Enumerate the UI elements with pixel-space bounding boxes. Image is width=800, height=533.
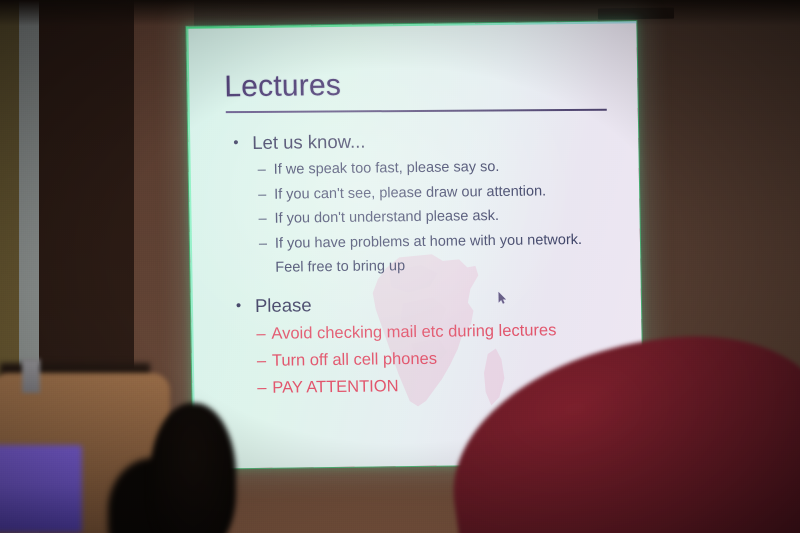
slide-title: Lectures — [224, 71, 341, 102]
bullet-text: PAY ATTENTION — [272, 373, 399, 402]
screen-valance — [598, 8, 674, 20]
bullet-item-emphasis: – PAY ATTENTION — [192, 370, 642, 402]
bullet-marker-dash: – — [258, 158, 266, 183]
bullet-marker-dash: – — [256, 320, 266, 347]
slide-bullet-list: • Let us know... – If we speak too fast,… — [188, 123, 643, 402]
bullet-text: If we speak too fast, please say so. — [274, 155, 500, 182]
bullet-marker-dash: – — [257, 347, 267, 374]
photo-scene: Lectures • Let us know... – If we speak … — [0, 0, 800, 533]
title-underline-rule — [226, 109, 607, 113]
slide-surface: Lectures • Let us know... – If we speak … — [186, 21, 643, 468]
bullet-marker-dash: – — [259, 231, 267, 256]
bullet-text: Please — [255, 290, 312, 321]
bullet-marker-dot: • — [233, 128, 239, 158]
bullet-text: Avoid checking mail etc during lectures — [271, 317, 556, 347]
bullet-text: If you have problems at home with you ne… — [275, 227, 582, 255]
bullet-marker-dash: – — [258, 182, 266, 207]
slide-content: Lectures • Let us know... – If we speak … — [186, 21, 643, 468]
mouse-pointer-icon — [498, 291, 507, 305]
bullet-marker-dot: • — [236, 291, 242, 321]
projection-screen: Lectures • Let us know... – If we speak … — [186, 21, 643, 468]
bullet-text: If you can't see, please draw our attent… — [274, 179, 546, 207]
bullet-marker-dash: – — [257, 374, 267, 401]
bullet-text: Feel free to bring up — [275, 254, 405, 280]
ceiling-shadow — [0, 0, 800, 26]
bullet-text: If you don't understand please ask. — [274, 204, 499, 231]
bullet-text: Let us know... — [252, 127, 366, 158]
bullet-text: Turn off all cell phones — [272, 345, 438, 374]
bullet-marker-dash: – — [258, 207, 266, 232]
